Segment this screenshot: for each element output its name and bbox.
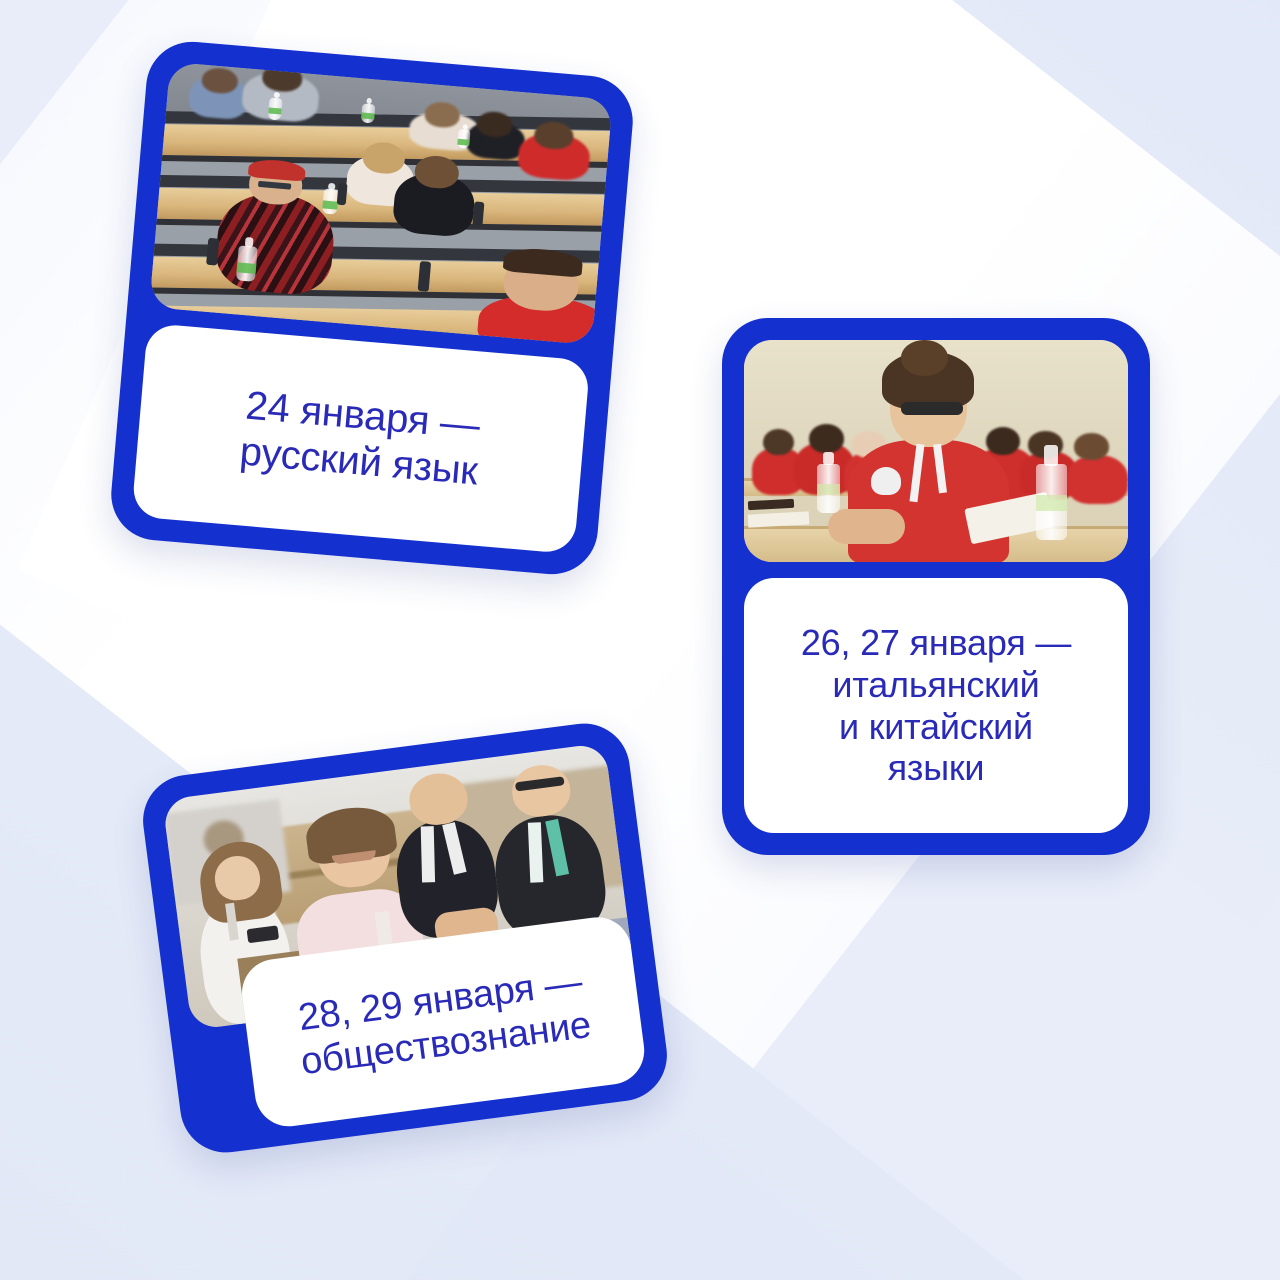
- poster-canvas: 24 января — русский язык: [0, 0, 1280, 1280]
- card-label-text: 26, 27 января — итальянский и китайский …: [801, 622, 1071, 789]
- lecture-hall-photo: [149, 62, 612, 345]
- schedule-card-russian[interactable]: 24 января — русский язык: [108, 38, 637, 578]
- card-label-languages: 26, 27 января — итальянский и китайский …: [744, 578, 1128, 833]
- exam-writing-photo: [744, 340, 1128, 562]
- card-label-text: 28, 29 января — обществознание: [293, 959, 594, 1084]
- schedule-card-social[interactable]: 28, 29 января — обществознание: [138, 718, 673, 1158]
- card-label-text: 24 января — русский язык: [238, 382, 484, 495]
- card-label-russian: 24 января — русский язык: [131, 323, 590, 554]
- schedule-card-languages[interactable]: 26, 27 января — итальянский и китайский …: [722, 318, 1150, 855]
